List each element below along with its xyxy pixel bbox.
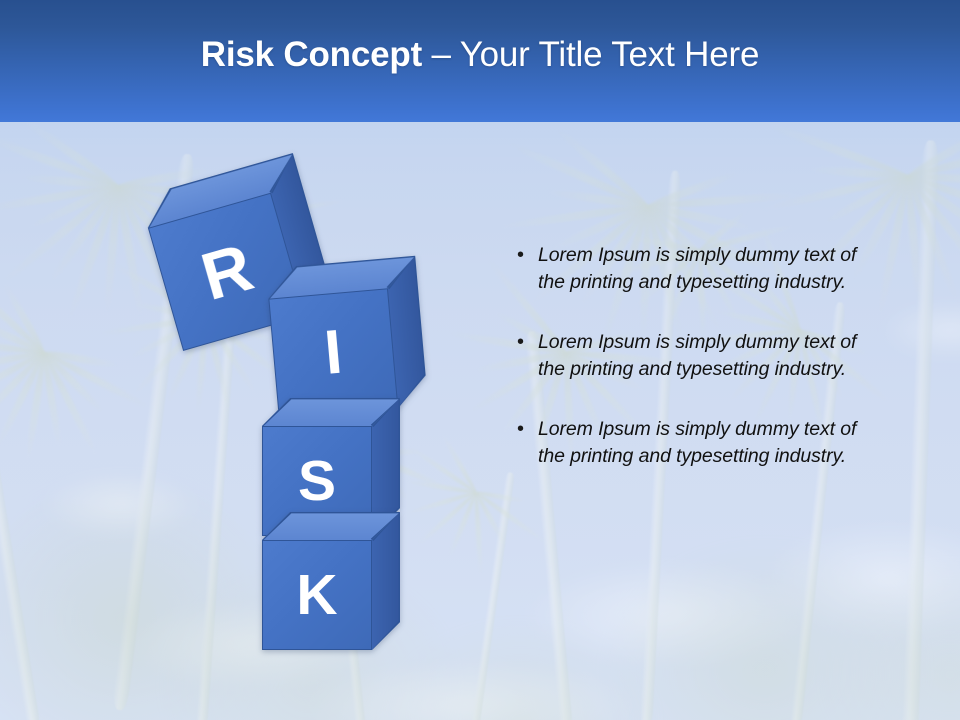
bullet-marker-icon: •	[508, 242, 538, 269]
bullet-item: •Lorem Ipsum is simply dummy text of the…	[508, 242, 858, 296]
bullet-item: •Lorem Ipsum is simply dummy text of the…	[508, 416, 858, 470]
page-title: Risk Concept – Your Title Text Here	[201, 35, 759, 75]
bullet-list: •Lorem Ipsum is simply dummy text of the…	[508, 242, 858, 503]
risk-block-i: I	[266, 256, 429, 419]
bullet-item: •Lorem Ipsum is simply dummy text of the…	[508, 329, 858, 383]
slide-canvas: Risk Concept – Your Title Text Here RISK…	[0, 0, 960, 720]
block-face-front: K	[262, 540, 372, 650]
bullet-text: Lorem Ipsum is simply dummy text of the …	[538, 416, 858, 470]
page-title-rest: – Your Title Text Here	[422, 35, 759, 74]
title-bar: Risk Concept – Your Title Text Here	[0, 0, 960, 122]
page-title-strong: Risk Concept	[201, 35, 422, 74]
block-letter: I	[322, 322, 345, 385]
bullet-marker-icon: •	[508, 329, 538, 356]
risk-block-k: K	[262, 512, 400, 650]
bullet-text: Lorem Ipsum is simply dummy text of the …	[538, 242, 858, 296]
bullet-marker-icon: •	[508, 416, 538, 443]
bullet-text: Lorem Ipsum is simply dummy text of the …	[538, 329, 858, 383]
block-letter: R	[195, 233, 260, 311]
block-letter: S	[298, 453, 336, 510]
block-letter: K	[296, 567, 337, 624]
